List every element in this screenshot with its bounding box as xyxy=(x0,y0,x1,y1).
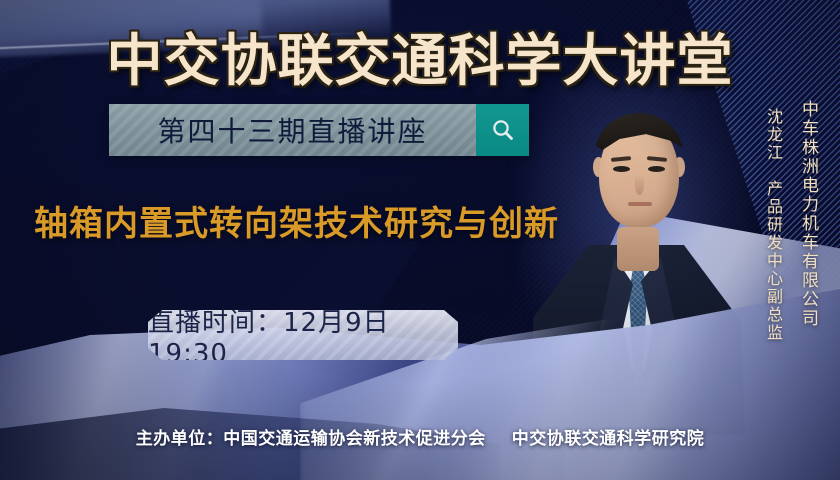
page-title: 中交协联交通科学大讲堂 xyxy=(0,16,840,97)
episode-label: 第四十三期直播讲座 xyxy=(157,110,427,150)
episode-banner-body: 第四十三期直播讲座 xyxy=(109,104,476,156)
speaker-name-and-title: 沈龙江 产品研发中心副总监 xyxy=(763,108,782,342)
organizers-footer: 主办单位：中国交通运输协会新技术促进分会中交协联交通科学研究院 xyxy=(0,424,840,449)
search-icon xyxy=(490,117,516,143)
organizer-primary: 中国交通运输协会新技术促进分会 xyxy=(223,429,486,449)
lecture-topic-title: 轴箱内置式转向架技术研究与创新 xyxy=(34,196,559,245)
broadcast-time-text: 直播时间：12月9日19:30 xyxy=(148,302,458,369)
organizers-prefix: 主办单位： xyxy=(136,429,224,449)
portrait-eye-left xyxy=(613,166,630,172)
portrait-eye-right xyxy=(648,166,665,172)
livestream-poster: 中交协联交通科学大讲堂 第四十三期直播讲座 轴箱内置式转向架技术研究与创新 直播… xyxy=(0,0,840,480)
episode-banner: 第四十三期直播讲座 xyxy=(109,104,529,156)
search-icon-box[interactable] xyxy=(476,104,529,156)
organizer-secondary: 中交协联交通科学研究院 xyxy=(512,429,705,449)
portrait-mouth xyxy=(628,202,652,206)
broadcast-time-badge: 直播时间：12月9日19:30 xyxy=(148,310,458,360)
portrait-nose xyxy=(635,175,644,195)
portrait-neck xyxy=(617,227,659,271)
speaker-company: 中车株洲电力机车有限公司 xyxy=(798,100,818,328)
